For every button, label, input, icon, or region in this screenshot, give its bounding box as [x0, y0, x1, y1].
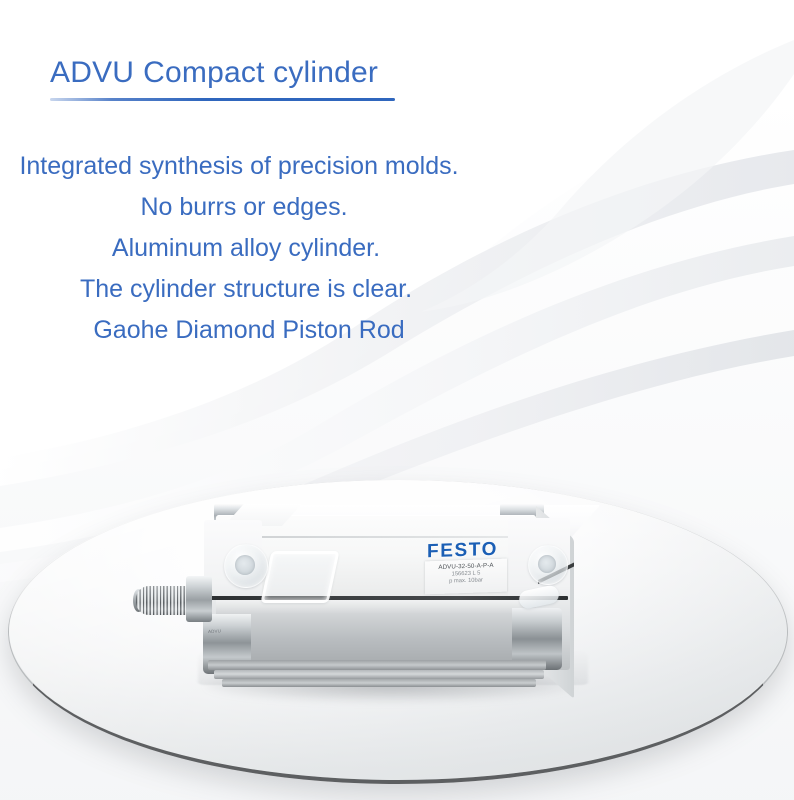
compact-cylinder-photo	[0, 400, 794, 800]
feature-list: Integrated synthesis of precision molds.…	[0, 146, 500, 351]
cylinder-profile-fin	[214, 670, 544, 679]
feature-line: Aluminum alloy cylinder.	[0, 228, 500, 269]
product-code: ADVU	[50, 56, 134, 89]
product-label-sticker: ADVU-32-50-A-P-A 156623 L 5 p max. 10bar	[425, 559, 507, 595]
cylinder-profile-fin	[208, 660, 546, 670]
product-title: Compact cylinder	[143, 56, 378, 89]
port-plug-left-core	[235, 555, 255, 575]
port-plug-right-core	[538, 555, 556, 573]
feature-line: Gaohe Diamond Piston Rod	[0, 310, 500, 351]
plastic-tether-strap	[260, 551, 339, 603]
page-title: ADVUCompact cylinder	[50, 56, 750, 91]
piston-rod-hex-nut	[186, 576, 212, 622]
piston-rod-thread	[136, 586, 190, 615]
label-pressure-rating: p max. 10bar	[425, 577, 507, 586]
cylinder-profile-fin	[222, 679, 536, 687]
product-banner: ADVUCompact cylinder Integrated synthesi…	[0, 0, 794, 800]
page-header: ADVUCompact cylinder	[50, 56, 750, 101]
feature-line: Integrated synthesis of precision molds.	[0, 146, 500, 187]
cylinder-top-edge	[216, 536, 536, 538]
title-underline	[50, 98, 395, 101]
feature-line: No burrs or edges.	[0, 187, 500, 228]
feature-line: The cylinder structure is clear.	[0, 269, 500, 310]
